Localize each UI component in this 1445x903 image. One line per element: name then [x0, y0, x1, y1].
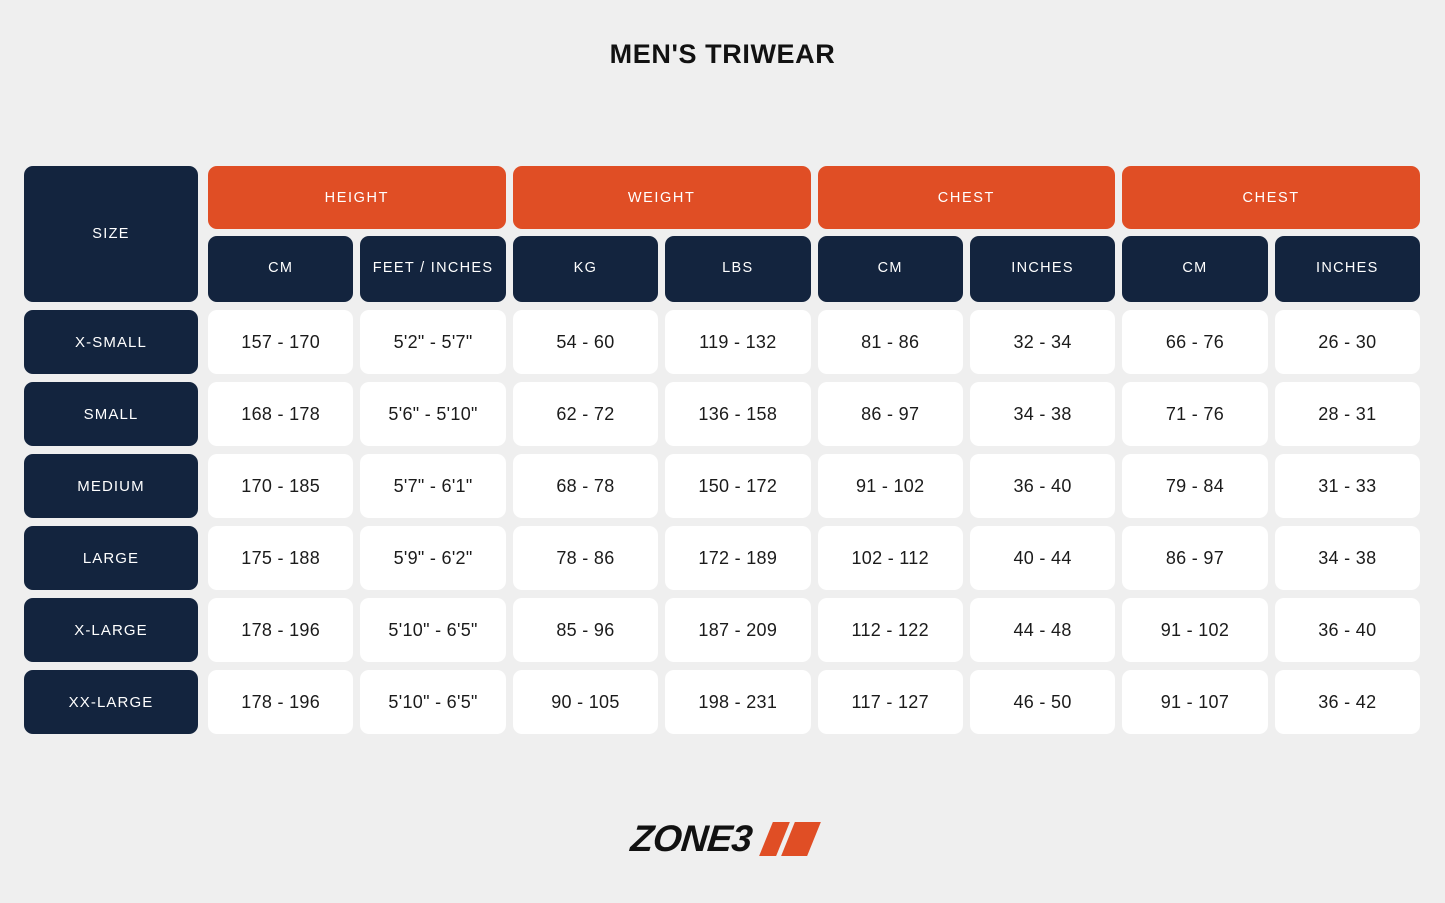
row-values: 170 - 185 5'7" - 6'1" 68 - 78 150 - 172 …: [208, 454, 1420, 518]
cell-height-cm: 168 - 178: [208, 382, 353, 446]
cell-chest-1-inches: 46 - 50: [970, 670, 1115, 734]
row-group-height: 178 - 196 5'10" - 6'5": [208, 598, 506, 662]
subheader-height-feet-inches: FEET / INCHES: [360, 236, 505, 302]
subheader-weight-kg: KG: [513, 236, 658, 302]
cell-chest-1-cm: 81 - 86: [818, 310, 963, 374]
cell-chest-1-cm: 112 - 122: [818, 598, 963, 662]
row-group-chest-2: 79 - 84 31 - 33: [1122, 454, 1420, 518]
cell-weight-kg: 54 - 60: [513, 310, 658, 374]
cell-weight-kg: 90 - 105: [513, 670, 658, 734]
measurement-group-chest-1: CHEST CM INCHES: [818, 166, 1116, 302]
table-row: XX-LARGE 178 - 196 5'10" - 6'5" 90 - 105…: [24, 670, 1420, 734]
measurement-group-height: HEIGHT CM FEET / INCHES: [208, 166, 506, 302]
row-group-chest-1: 112 - 122 44 - 48: [818, 598, 1116, 662]
subheader-row-chest-2: CM INCHES: [1122, 236, 1420, 302]
row-values: 175 - 188 5'9" - 6'2" 78 - 86 172 - 189 …: [208, 526, 1420, 590]
cell-chest-2-inches: 36 - 40: [1275, 598, 1420, 662]
cell-chest-2-inches: 36 - 42: [1275, 670, 1420, 734]
cell-chest-1-cm: 86 - 97: [818, 382, 963, 446]
cell-chest-1-inches: 44 - 48: [970, 598, 1115, 662]
row-group-chest-2: 91 - 102 36 - 40: [1122, 598, 1420, 662]
cell-chest-1-inches: 36 - 40: [970, 454, 1115, 518]
cell-chest-2-inches: 26 - 30: [1275, 310, 1420, 374]
subheader-row-height: CM FEET / INCHES: [208, 236, 506, 302]
row-group-weight: 62 - 72 136 - 158: [513, 382, 811, 446]
row-group-height: 170 - 185 5'7" - 6'1": [208, 454, 506, 518]
row-group-height: 168 - 178 5'6" - 5'10": [208, 382, 506, 446]
measurement-group-headers: HEIGHT CM FEET / INCHES WEIGHT KG LBS CH…: [208, 166, 1420, 302]
subheader-chest-2-cm: CM: [1122, 236, 1267, 302]
cell-weight-lbs: 198 - 231: [665, 670, 810, 734]
row-group-weight: 78 - 86 172 - 189: [513, 526, 811, 590]
row-group-chest-1: 102 - 112 40 - 44: [818, 526, 1116, 590]
table-row: SMALL 168 - 178 5'6" - 5'10" 62 - 72 136…: [24, 382, 1420, 446]
row-group-height: 157 - 170 5'2" - 5'7": [208, 310, 506, 374]
cell-chest-1-cm: 91 - 102: [818, 454, 963, 518]
row-group-chest-1: 117 - 127 46 - 50: [818, 670, 1116, 734]
row-size-label: SMALL: [24, 382, 198, 446]
brand-logo-wordmark: ZONE3: [629, 818, 754, 860]
row-group-weight: 54 - 60 119 - 132: [513, 310, 811, 374]
row-group-chest-2: 71 - 76 28 - 31: [1122, 382, 1420, 446]
cell-height-cm: 178 - 196: [208, 670, 353, 734]
cell-chest-2-inches: 28 - 31: [1275, 382, 1420, 446]
cell-chest-1-cm: 117 - 127: [818, 670, 963, 734]
size-chart-table: SIZE HEIGHT CM FEET / INCHES WEIGHT KG L…: [24, 166, 1420, 734]
row-group-chest-2: 66 - 76 26 - 30: [1122, 310, 1420, 374]
cell-height-feet-inches: 5'10" - 6'5": [360, 670, 505, 734]
subheader-height-cm: CM: [208, 236, 353, 302]
subheader-chest-1-cm: CM: [818, 236, 963, 302]
cell-height-feet-inches: 5'2" - 5'7": [360, 310, 505, 374]
cell-weight-kg: 62 - 72: [513, 382, 658, 446]
measurement-group-weight: WEIGHT KG LBS: [513, 166, 811, 302]
group-title-chest-1: CHEST: [818, 166, 1116, 229]
group-title-height: HEIGHT: [208, 166, 506, 229]
column-header-size: SIZE: [24, 166, 198, 302]
row-group-weight: 85 - 96 187 - 209: [513, 598, 811, 662]
measurement-group-chest-2: CHEST CM INCHES: [1122, 166, 1420, 302]
table-row: MEDIUM 170 - 185 5'7" - 6'1" 68 - 78 150…: [24, 454, 1420, 518]
cell-chest-1-inches: 40 - 44: [970, 526, 1115, 590]
group-title-chest-2: CHEST: [1122, 166, 1420, 229]
cell-chest-1-inches: 32 - 34: [970, 310, 1115, 374]
cell-weight-lbs: 172 - 189: [665, 526, 810, 590]
cell-weight-kg: 85 - 96: [513, 598, 658, 662]
cell-chest-2-cm: 79 - 84: [1122, 454, 1267, 518]
page-title: MEN'S TRIWEAR: [610, 38, 836, 70]
cell-chest-2-inches: 34 - 38: [1275, 526, 1420, 590]
table-row: LARGE 175 - 188 5'9" - 6'2" 78 - 86 172 …: [24, 526, 1420, 590]
brand-logo: ZONE3: [0, 818, 1445, 860]
subheader-chest-2-inches: INCHES: [1275, 236, 1420, 302]
cell-chest-1-inches: 34 - 38: [970, 382, 1115, 446]
row-values: 178 - 196 5'10" - 6'5" 85 - 96 187 - 209…: [208, 598, 1420, 662]
cell-chest-2-inches: 31 - 33: [1275, 454, 1420, 518]
row-values: 178 - 196 5'10" - 6'5" 90 - 105 198 - 23…: [208, 670, 1420, 734]
table-row: X-SMALL 157 - 170 5'2" - 5'7" 54 - 60 11…: [24, 310, 1420, 374]
row-size-label: LARGE: [24, 526, 198, 590]
cell-weight-lbs: 150 - 172: [665, 454, 810, 518]
row-size-label: XX-LARGE: [24, 670, 198, 734]
cell-height-cm: 157 - 170: [208, 310, 353, 374]
cell-weight-lbs: 136 - 158: [665, 382, 810, 446]
size-chart-page: MEN'S TRIWEAR SIZE HEIGHT CM FEET / INCH…: [0, 0, 1445, 903]
row-size-label: X-SMALL: [24, 310, 198, 374]
row-group-height: 175 - 188 5'9" - 6'2": [208, 526, 506, 590]
row-values: 157 - 170 5'2" - 5'7" 54 - 60 119 - 132 …: [208, 310, 1420, 374]
cell-height-cm: 170 - 185: [208, 454, 353, 518]
subheader-weight-lbs: LBS: [665, 236, 810, 302]
row-group-chest-2: 86 - 97 34 - 38: [1122, 526, 1420, 590]
cell-weight-lbs: 119 - 132: [665, 310, 810, 374]
row-group-height: 178 - 196 5'10" - 6'5": [208, 670, 506, 734]
cell-weight-kg: 78 - 86: [513, 526, 658, 590]
group-title-weight: WEIGHT: [513, 166, 811, 229]
cell-chest-2-cm: 86 - 97: [1122, 526, 1267, 590]
cell-height-feet-inches: 5'9" - 6'2": [360, 526, 505, 590]
row-group-chest-1: 86 - 97 34 - 38: [818, 382, 1116, 446]
cell-height-feet-inches: 5'6" - 5'10": [360, 382, 505, 446]
brand-logo-stripes-icon: [766, 822, 814, 856]
cell-height-cm: 175 - 188: [208, 526, 353, 590]
row-group-chest-1: 81 - 86 32 - 34: [818, 310, 1116, 374]
subheader-row-weight: KG LBS: [513, 236, 811, 302]
cell-chest-2-cm: 66 - 76: [1122, 310, 1267, 374]
row-values: 168 - 178 5'6" - 5'10" 62 - 72 136 - 158…: [208, 382, 1420, 446]
cell-height-feet-inches: 5'10" - 6'5": [360, 598, 505, 662]
cell-weight-kg: 68 - 78: [513, 454, 658, 518]
subheader-chest-1-inches: INCHES: [970, 236, 1115, 302]
table-header: SIZE HEIGHT CM FEET / INCHES WEIGHT KG L…: [24, 166, 1420, 302]
table-row: X-LARGE 178 - 196 5'10" - 6'5" 85 - 96 1…: [24, 598, 1420, 662]
row-group-chest-1: 91 - 102 36 - 40: [818, 454, 1116, 518]
cell-chest-2-cm: 91 - 102: [1122, 598, 1267, 662]
row-group-chest-2: 91 - 107 36 - 42: [1122, 670, 1420, 734]
subheader-row-chest-1: CM INCHES: [818, 236, 1116, 302]
cell-chest-2-cm: 71 - 76: [1122, 382, 1267, 446]
row-size-label: X-LARGE: [24, 598, 198, 662]
cell-weight-lbs: 187 - 209: [665, 598, 810, 662]
cell-chest-1-cm: 102 - 112: [818, 526, 963, 590]
row-group-weight: 90 - 105 198 - 231: [513, 670, 811, 734]
cell-height-feet-inches: 5'7" - 6'1": [360, 454, 505, 518]
row-size-label: MEDIUM: [24, 454, 198, 518]
cell-chest-2-cm: 91 - 107: [1122, 670, 1267, 734]
row-group-weight: 68 - 78 150 - 172: [513, 454, 811, 518]
cell-height-cm: 178 - 196: [208, 598, 353, 662]
